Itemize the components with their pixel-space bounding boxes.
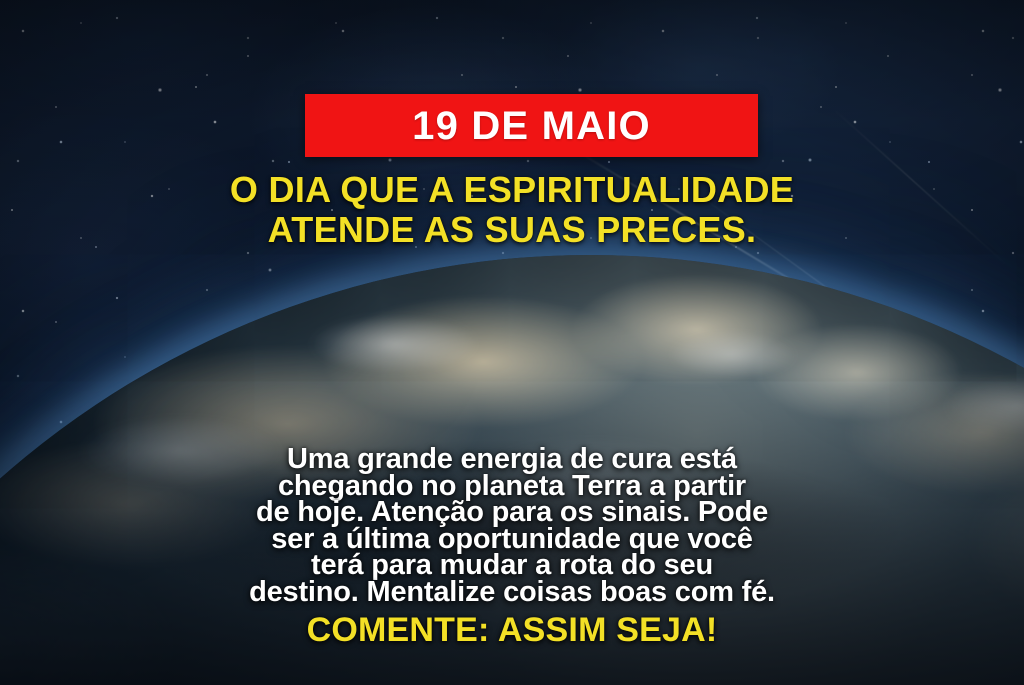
social-media-poster: 19 DE MAIO O DIA QUE A ESPIRITUALIDADE A… [0, 0, 1024, 685]
body-paragraph: Uma grande energia de cura está chegando… [50, 446, 974, 605]
headline-line-1: O DIA QUE A ESPIRITUALIDADE [0, 170, 1024, 210]
call-to-action: COMENTE: ASSIM SEJA! [0, 613, 1024, 649]
body-line-1: Uma grande energia de cura está [50, 446, 974, 473]
headline-line-2: ATENDE AS SUAS PRECES. [0, 210, 1024, 250]
body-line-3: de hoje. Atenção para os sinais. Pode [50, 499, 974, 526]
headline: O DIA QUE A ESPIRITUALIDADE ATENDE AS SU… [0, 170, 1024, 250]
body-line-5: terá para mudar a rota do seu [50, 552, 974, 579]
poster-content: 19 DE MAIO O DIA QUE A ESPIRITUALIDADE A… [0, 0, 1024, 685]
date-banner-label: 19 DE MAIO [412, 106, 651, 146]
date-banner: 19 DE MAIO [305, 94, 758, 157]
call-to-action-label: COMENTE: ASSIM SEJA! [307, 611, 718, 649]
body-line-6: destino. Mentalize coisas boas com fé. [50, 579, 974, 606]
